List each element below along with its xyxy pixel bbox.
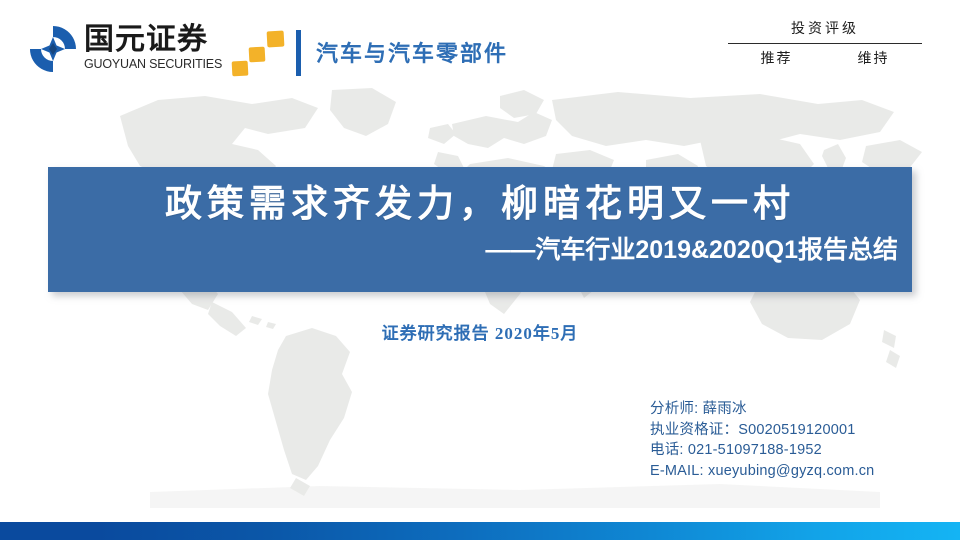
- investment-rating-box: 投资评级 推荐 维持: [728, 20, 922, 70]
- vertical-bar-divider-icon: [296, 30, 301, 76]
- rating-status: 维持: [858, 50, 890, 70]
- industry-subject-label: 汽车与汽车零部件: [316, 41, 508, 67]
- page-header: 国元证券 GUOYUAN SECURITIES 汽车与汽车零部件 投资评级 推荐…: [0, 0, 960, 96]
- analyst-name: 分析师: 薛雨冰: [650, 399, 874, 420]
- gold-square-icon: [267, 31, 285, 48]
- rating-action: 推荐: [761, 50, 793, 70]
- report-title: 政策需求齐发力，柳暗花明又一村: [48, 181, 912, 229]
- gold-square-icon: [249, 47, 266, 63]
- brand-logo-text: 国元证券 GUOYUAN SECURITIES: [84, 24, 222, 72]
- analyst-phone: 电话: 021-51097188-1952: [650, 440, 874, 461]
- analyst-license: 执业资格证：S0020519120001: [650, 420, 874, 441]
- brand-name-en: GUOYUAN SECURITIES: [84, 57, 222, 72]
- brand-logo: 国元证券 GUOYUAN SECURITIES: [28, 24, 222, 74]
- report-type-and-date: 证券研究报告 2020年5月: [0, 322, 960, 346]
- footer-gradient-bar: [0, 522, 960, 540]
- gold-squares-decoration: [232, 30, 290, 78]
- investment-rating-values: 推荐 维持: [728, 44, 922, 70]
- analyst-email: E-MAIL: xueyubing@gyzq.com.cn: [650, 461, 874, 482]
- slide-cover-page: 国元证券 GUOYUAN SECURITIES 汽车与汽车零部件 投资评级 推荐…: [0, 0, 960, 540]
- report-subtitle: ——汽车行业2019&2020Q1报告总结: [485, 233, 898, 267]
- title-banner: 政策需求齐发力，柳暗花明又一村 ——汽车行业2019&2020Q1报告总结: [48, 167, 912, 292]
- gold-square-icon: [232, 61, 249, 77]
- guoyuan-circle-diamond-logo: [28, 24, 78, 74]
- brand-name-cn: 国元证券: [84, 24, 222, 56]
- analyst-contact-block: 分析师: 薛雨冰 执业资格证：S0020519120001 电话: 021-51…: [650, 399, 874, 481]
- investment-rating-title: 投资评级: [728, 20, 922, 43]
